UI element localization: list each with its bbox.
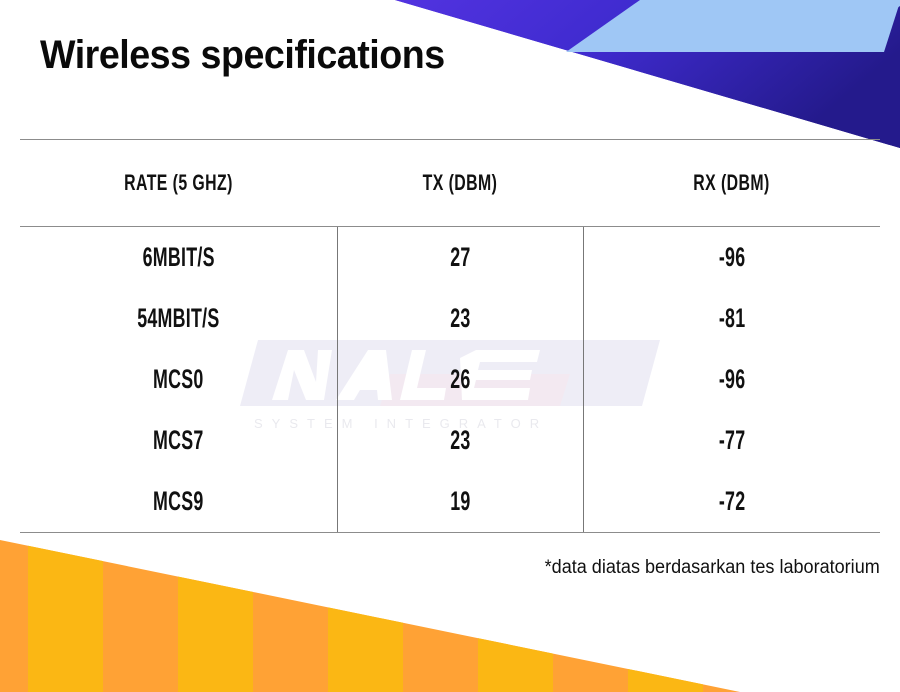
slide-canvas: Wireless specifications SYSTEM INTEGRATO… <box>0 0 900 692</box>
table-header: RATE (5 GHZ) TX (DBM) RX (DBM) <box>20 140 880 227</box>
cell-tx: 23 <box>337 410 583 471</box>
table-row: MCS0 26 -96 <box>20 349 880 410</box>
table-header-row: RATE (5 GHZ) TX (DBM) RX (DBM) <box>20 140 880 227</box>
cell-tx: 19 <box>337 471 583 533</box>
cell-tx: 23 <box>337 288 583 349</box>
cell-rx: -96 <box>583 349 880 410</box>
header-arrow-large <box>566 0 900 52</box>
cell-rate: MCS9 <box>20 471 337 533</box>
wireless-spec-table: RATE (5 GHZ) TX (DBM) RX (DBM) 6MBIT/S 2… <box>20 139 880 533</box>
cell-tx: 26 <box>337 349 583 410</box>
column-header-rate: RATE (5 GHZ) <box>64 140 292 227</box>
cell-rate: 6MBIT/S <box>20 227 337 289</box>
table-footnote: *data diatas berdasarkan tes laboratoriu… <box>545 557 880 579</box>
header-chevron-top <box>760 0 900 32</box>
column-header-tx: TX (DBM) <box>371 140 548 227</box>
cell-tx: 27 <box>337 227 583 289</box>
table-row: MCS7 23 -77 <box>20 410 880 471</box>
column-header-rx: RX (DBM) <box>625 140 839 227</box>
header-band-diagonal <box>395 0 900 148</box>
cell-rx: -77 <box>583 410 880 471</box>
table-body: 6MBIT/S 27 -96 54MBIT/S 23 -81 MCS0 26 -… <box>20 227 880 533</box>
cell-rx: -96 <box>583 227 880 289</box>
page-title: Wireless specifications <box>40 33 445 77</box>
cell-rate: MCS7 <box>20 410 337 471</box>
header-band-shape <box>395 0 900 148</box>
table-row: 54MBIT/S 23 -81 <box>20 288 880 349</box>
cell-rate: 54MBIT/S <box>20 288 337 349</box>
table-row: 6MBIT/S 27 -96 <box>20 227 880 289</box>
cell-rate: MCS0 <box>20 349 337 410</box>
header-chevron-upper <box>647 0 900 29</box>
table-row: MCS9 19 -72 <box>20 471 880 533</box>
cell-rx: -81 <box>583 288 880 349</box>
cell-rx: -72 <box>583 471 880 533</box>
